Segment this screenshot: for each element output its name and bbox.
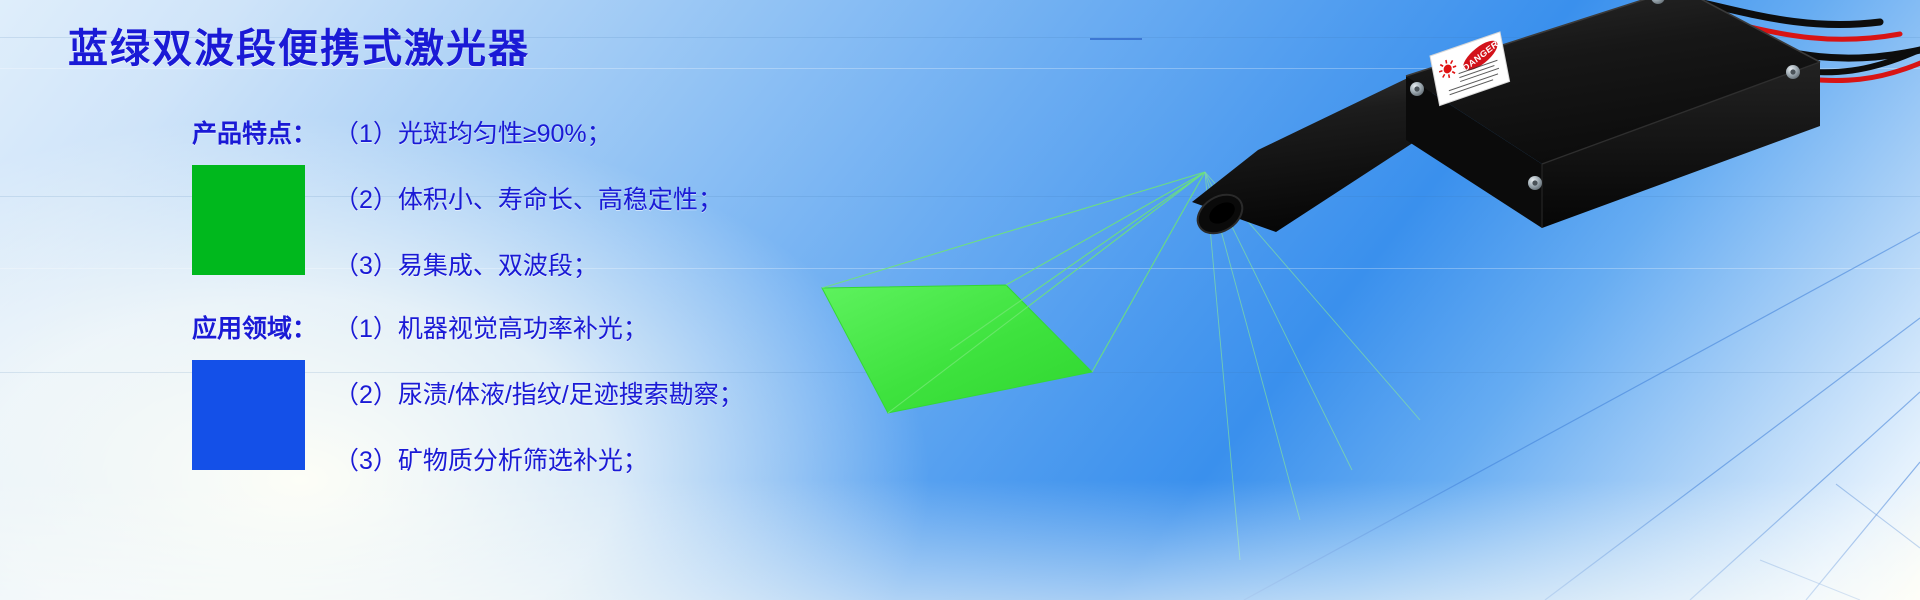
slide-canvas: 蓝绿双波段便携式激光器 产品特点： （1）光斑均匀性≥90%； （2）体积小、寿… <box>0 0 1920 600</box>
projected-light-spot <box>822 285 1092 413</box>
portable-laser-module: DANGER <box>1180 0 1920 260</box>
